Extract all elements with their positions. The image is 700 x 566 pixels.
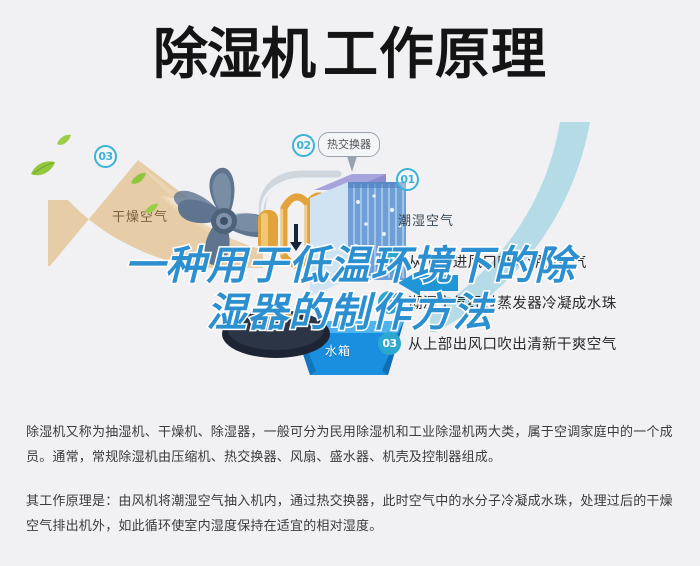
step-item: 01 从下部进风口吸入潮湿空气	[378, 250, 688, 273]
paragraph-intro: 除湿机又称为抽湿机、干燥机、除湿器，一般可分为民用除湿机和工业除湿机两大类，属于…	[26, 420, 676, 470]
step-list: 01 从下部进风口吸入潮湿空气 02 潮湿空气经过蒸发器冷凝成水珠 03 从上部…	[378, 250, 688, 373]
step-label: 从下部进风口吸入潮湿空气	[408, 251, 587, 272]
title-part-a: 除湿机	[153, 22, 315, 86]
step-badge: 01	[378, 250, 401, 273]
poster-page: 除湿机工作原理 干燥空气 03	[0, 0, 700, 566]
paragraph-principle: 其工作原理是：由风机将潮湿空气抽入机内，通过热交换器，此时空气中的水分子冷凝成水…	[26, 489, 676, 539]
step-label: 从上部出风口吹出清新干爽空气	[408, 333, 617, 354]
heat-exchanger-callout: 热交换器	[318, 132, 380, 157]
step-label: 潮湿空气经过蒸发器冷凝成水珠	[408, 292, 617, 313]
leaf-icon	[144, 202, 159, 220]
badge-humid-air: 01	[396, 168, 419, 191]
leaf-icon	[30, 160, 56, 183]
leaf-icon	[130, 172, 147, 191]
dry-air-label: 干燥空气	[112, 206, 168, 225]
badge-heat-exchanger: 02	[292, 134, 315, 157]
page-title: 除湿机工作原理	[0, 26, 700, 84]
badge-dry-air: 03	[94, 145, 117, 168]
dehumidifier-diagram: 干燥空气 03	[0, 110, 700, 410]
step-badge: 02	[378, 291, 401, 314]
body-copy: 除湿机又称为抽湿机、干燥机、除湿器，一般可分为民用除湿机和工业除湿机两大类，属于…	[26, 420, 676, 539]
step-item: 02 潮湿空气经过蒸发器冷凝成水珠	[378, 291, 688, 314]
leaf-icon	[56, 134, 72, 152]
humid-air-label: 潮湿空气	[398, 210, 454, 229]
step-item: 03 从上部出风口吹出清新干爽空气	[378, 332, 688, 355]
title-text: 除湿机工作原理	[153, 26, 547, 84]
step-badge: 03	[378, 332, 401, 355]
title-part-b: 工作原理	[323, 22, 547, 86]
unit-base-icon	[222, 306, 332, 369]
